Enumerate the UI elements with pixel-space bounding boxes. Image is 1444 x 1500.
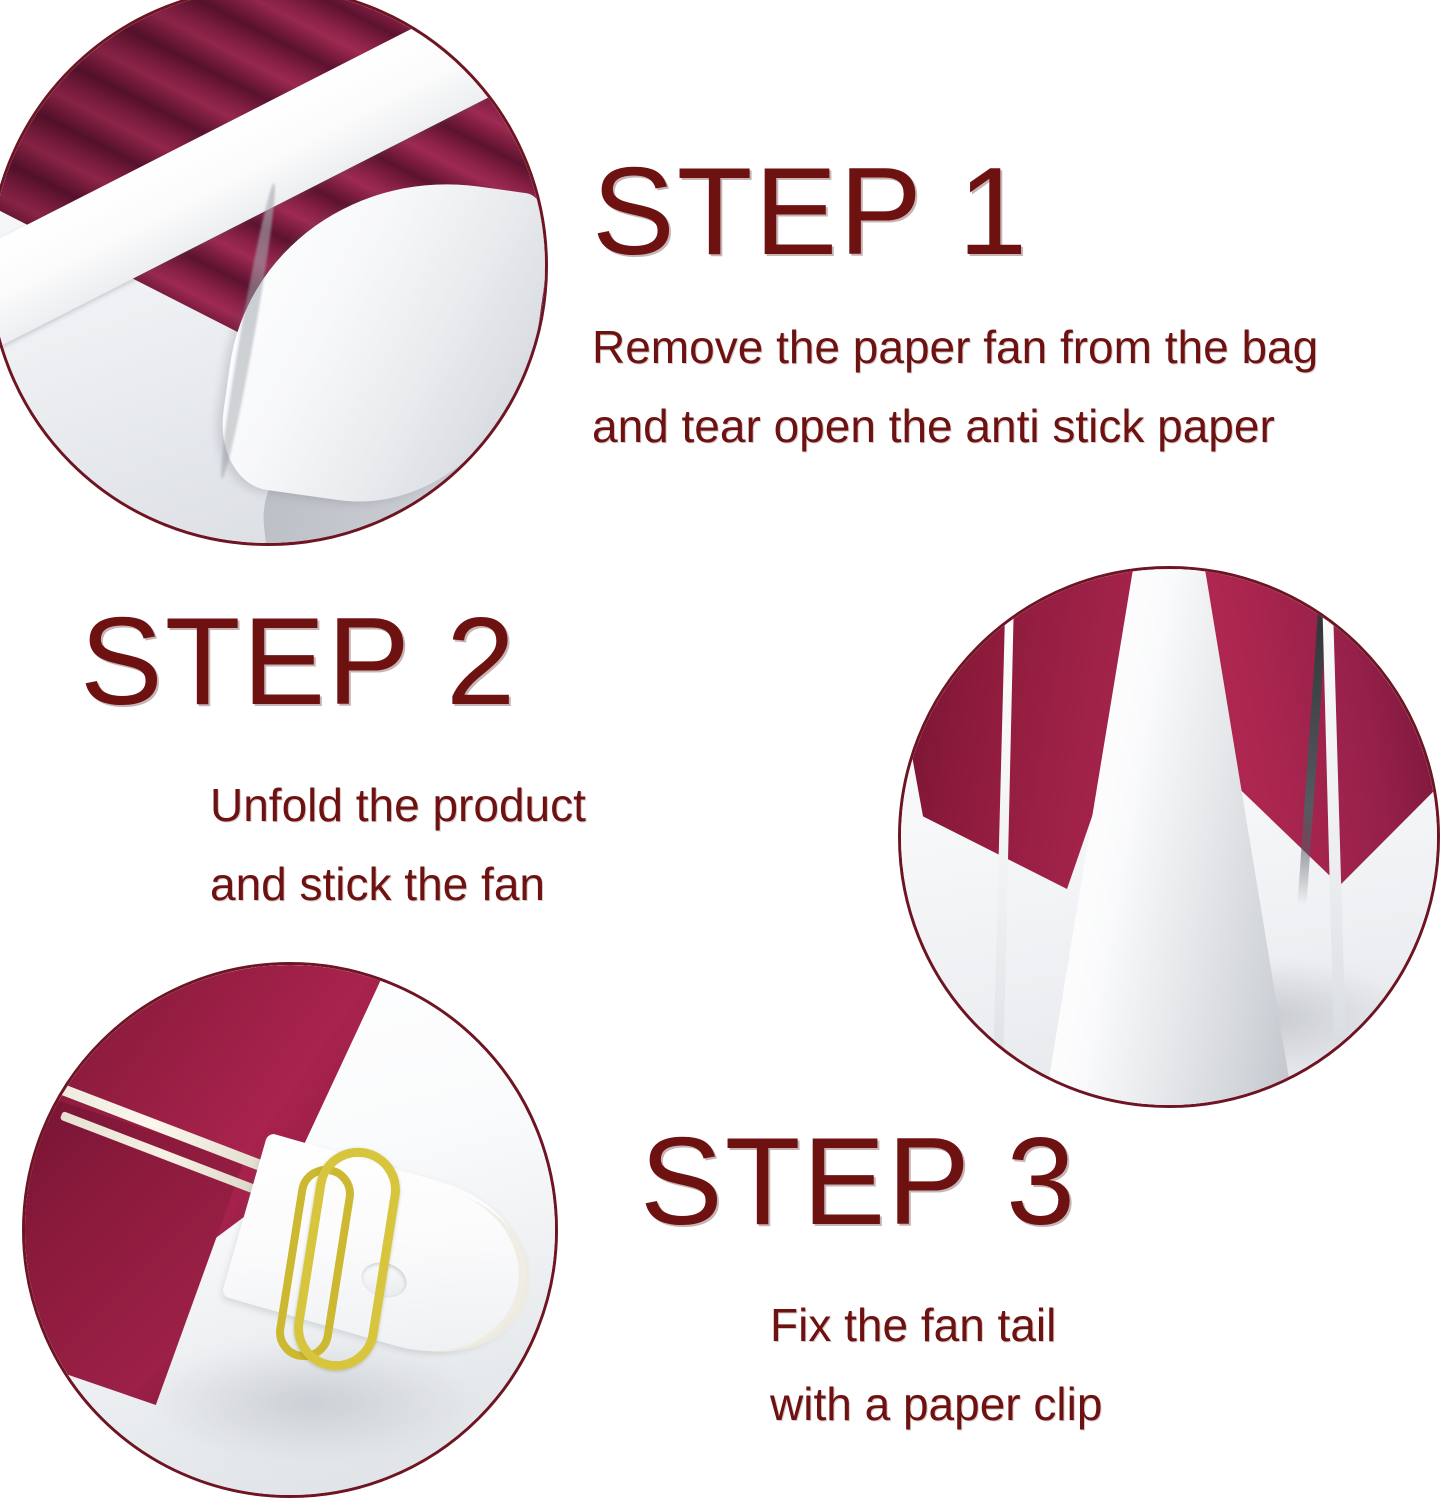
step-2-heading: STEP 2 [80,600,586,724]
instruction-infographic: STEP 1 Remove the paper fan from the bag… [0,0,1444,1500]
step-3-body-line-2: with a paper clip [770,1365,1102,1444]
step-3-text-block: STEP 3 Fix the fan tail with a paper cli… [640,1120,1102,1444]
step-1-body: Remove the paper fan from the bag and te… [592,308,1318,466]
step-1-body-line-1: Remove the paper fan from the bag [592,308,1318,387]
step-1-body-line-2: and tear open the anti stick paper [592,387,1318,466]
step-2-body: Unfold the product and stick the fan [210,766,586,924]
step-1-text-block: STEP 1 Remove the paper fan from the bag… [592,150,1318,466]
step-3-photo-content [25,965,555,1495]
step-3-photo-fan-tail-clip [22,962,558,1498]
step-2-body-line-1: Unfold the product [210,766,586,845]
step-3-heading: STEP 3 [640,1120,1102,1244]
step-2-photo-unfolded-fan [898,566,1440,1108]
step-3-body: Fix the fan tail with a paper clip [770,1286,1102,1444]
step-3-body-line-1: Fix the fan tail [770,1286,1102,1365]
step-1-photo-pleated-fan [0,0,548,546]
step-2-body-line-2: and stick the fan [210,845,586,924]
step-2-text-block: STEP 2 Unfold the product and stick the … [80,600,586,924]
step-1-heading: STEP 1 [592,150,1318,274]
step-1-photo-content [0,0,545,543]
step-2-photo-content [901,569,1437,1105]
